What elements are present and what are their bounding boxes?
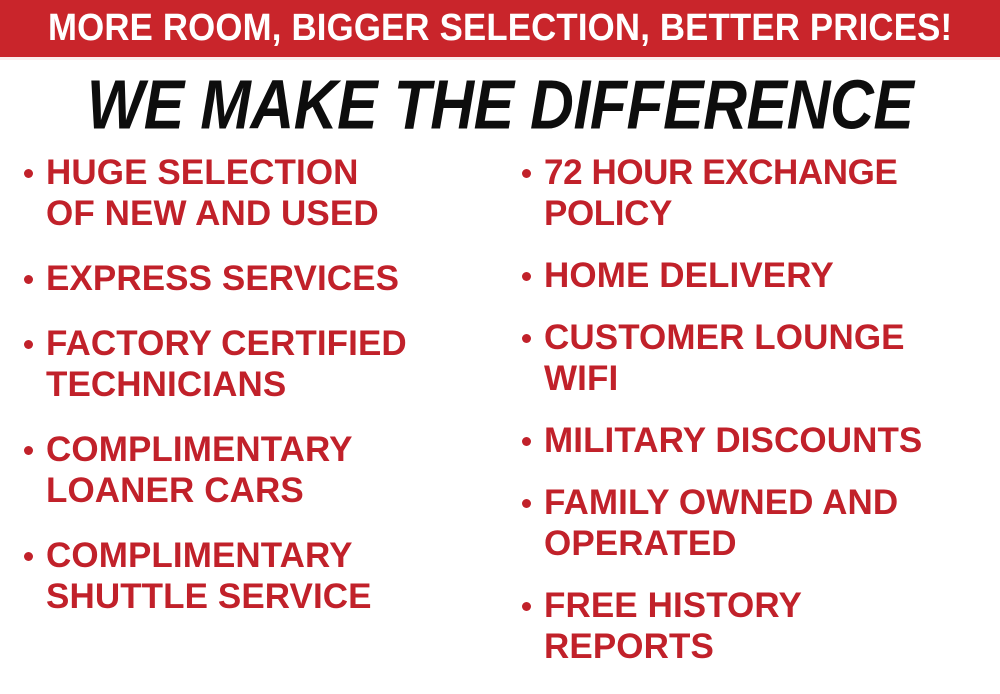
list-item: CUSTOMER LOUNGE WIFI — [512, 317, 1000, 399]
promo-poster: MORE ROOM, BIGGER SELECTION, BETTER PRIC… — [0, 0, 1000, 694]
list-item: FAMILY OWNED AND OPERATED — [512, 482, 1000, 564]
list-item: COMPLIMENTARY LOANER CARS — [14, 429, 506, 511]
banner-underline-divider — [0, 57, 1000, 60]
benefits-columns: HUGE SELECTION OF NEW AND USED EXPRESS S… — [0, 152, 1000, 692]
list-item: FREE HISTORY REPORTS — [512, 585, 1000, 667]
list-item: COMPLIMENTARY SHUTTLE SERVICE — [14, 535, 506, 617]
list-item: EXPRESS SERVICES — [14, 258, 506, 299]
main-headline: WE MAKE THE DIFFERENCE — [0, 68, 1000, 140]
list-item: FACTORY CERTIFIED TECHNICIANS — [14, 323, 506, 405]
benefits-column-left: HUGE SELECTION OF NEW AND USED EXPRESS S… — [14, 152, 506, 641]
list-item: 72 HOUR EXCHANGE POLICY — [512, 152, 1000, 234]
list-item: HOME DELIVERY — [512, 255, 1000, 296]
banner-headline-text: MORE ROOM, BIGGER SELECTION, BETTER PRIC… — [48, 9, 952, 47]
main-headline-text: WE MAKE THE DIFFERENCE — [87, 69, 913, 139]
list-item: MILITARY DISCOUNTS — [512, 420, 1000, 461]
list-item: HUGE SELECTION OF NEW AND USED — [14, 152, 506, 234]
benefits-column-right: 72 HOUR EXCHANGE POLICY HOME DELIVERY CU… — [512, 152, 1000, 688]
top-banner: MORE ROOM, BIGGER SELECTION, BETTER PRIC… — [0, 0, 1000, 57]
